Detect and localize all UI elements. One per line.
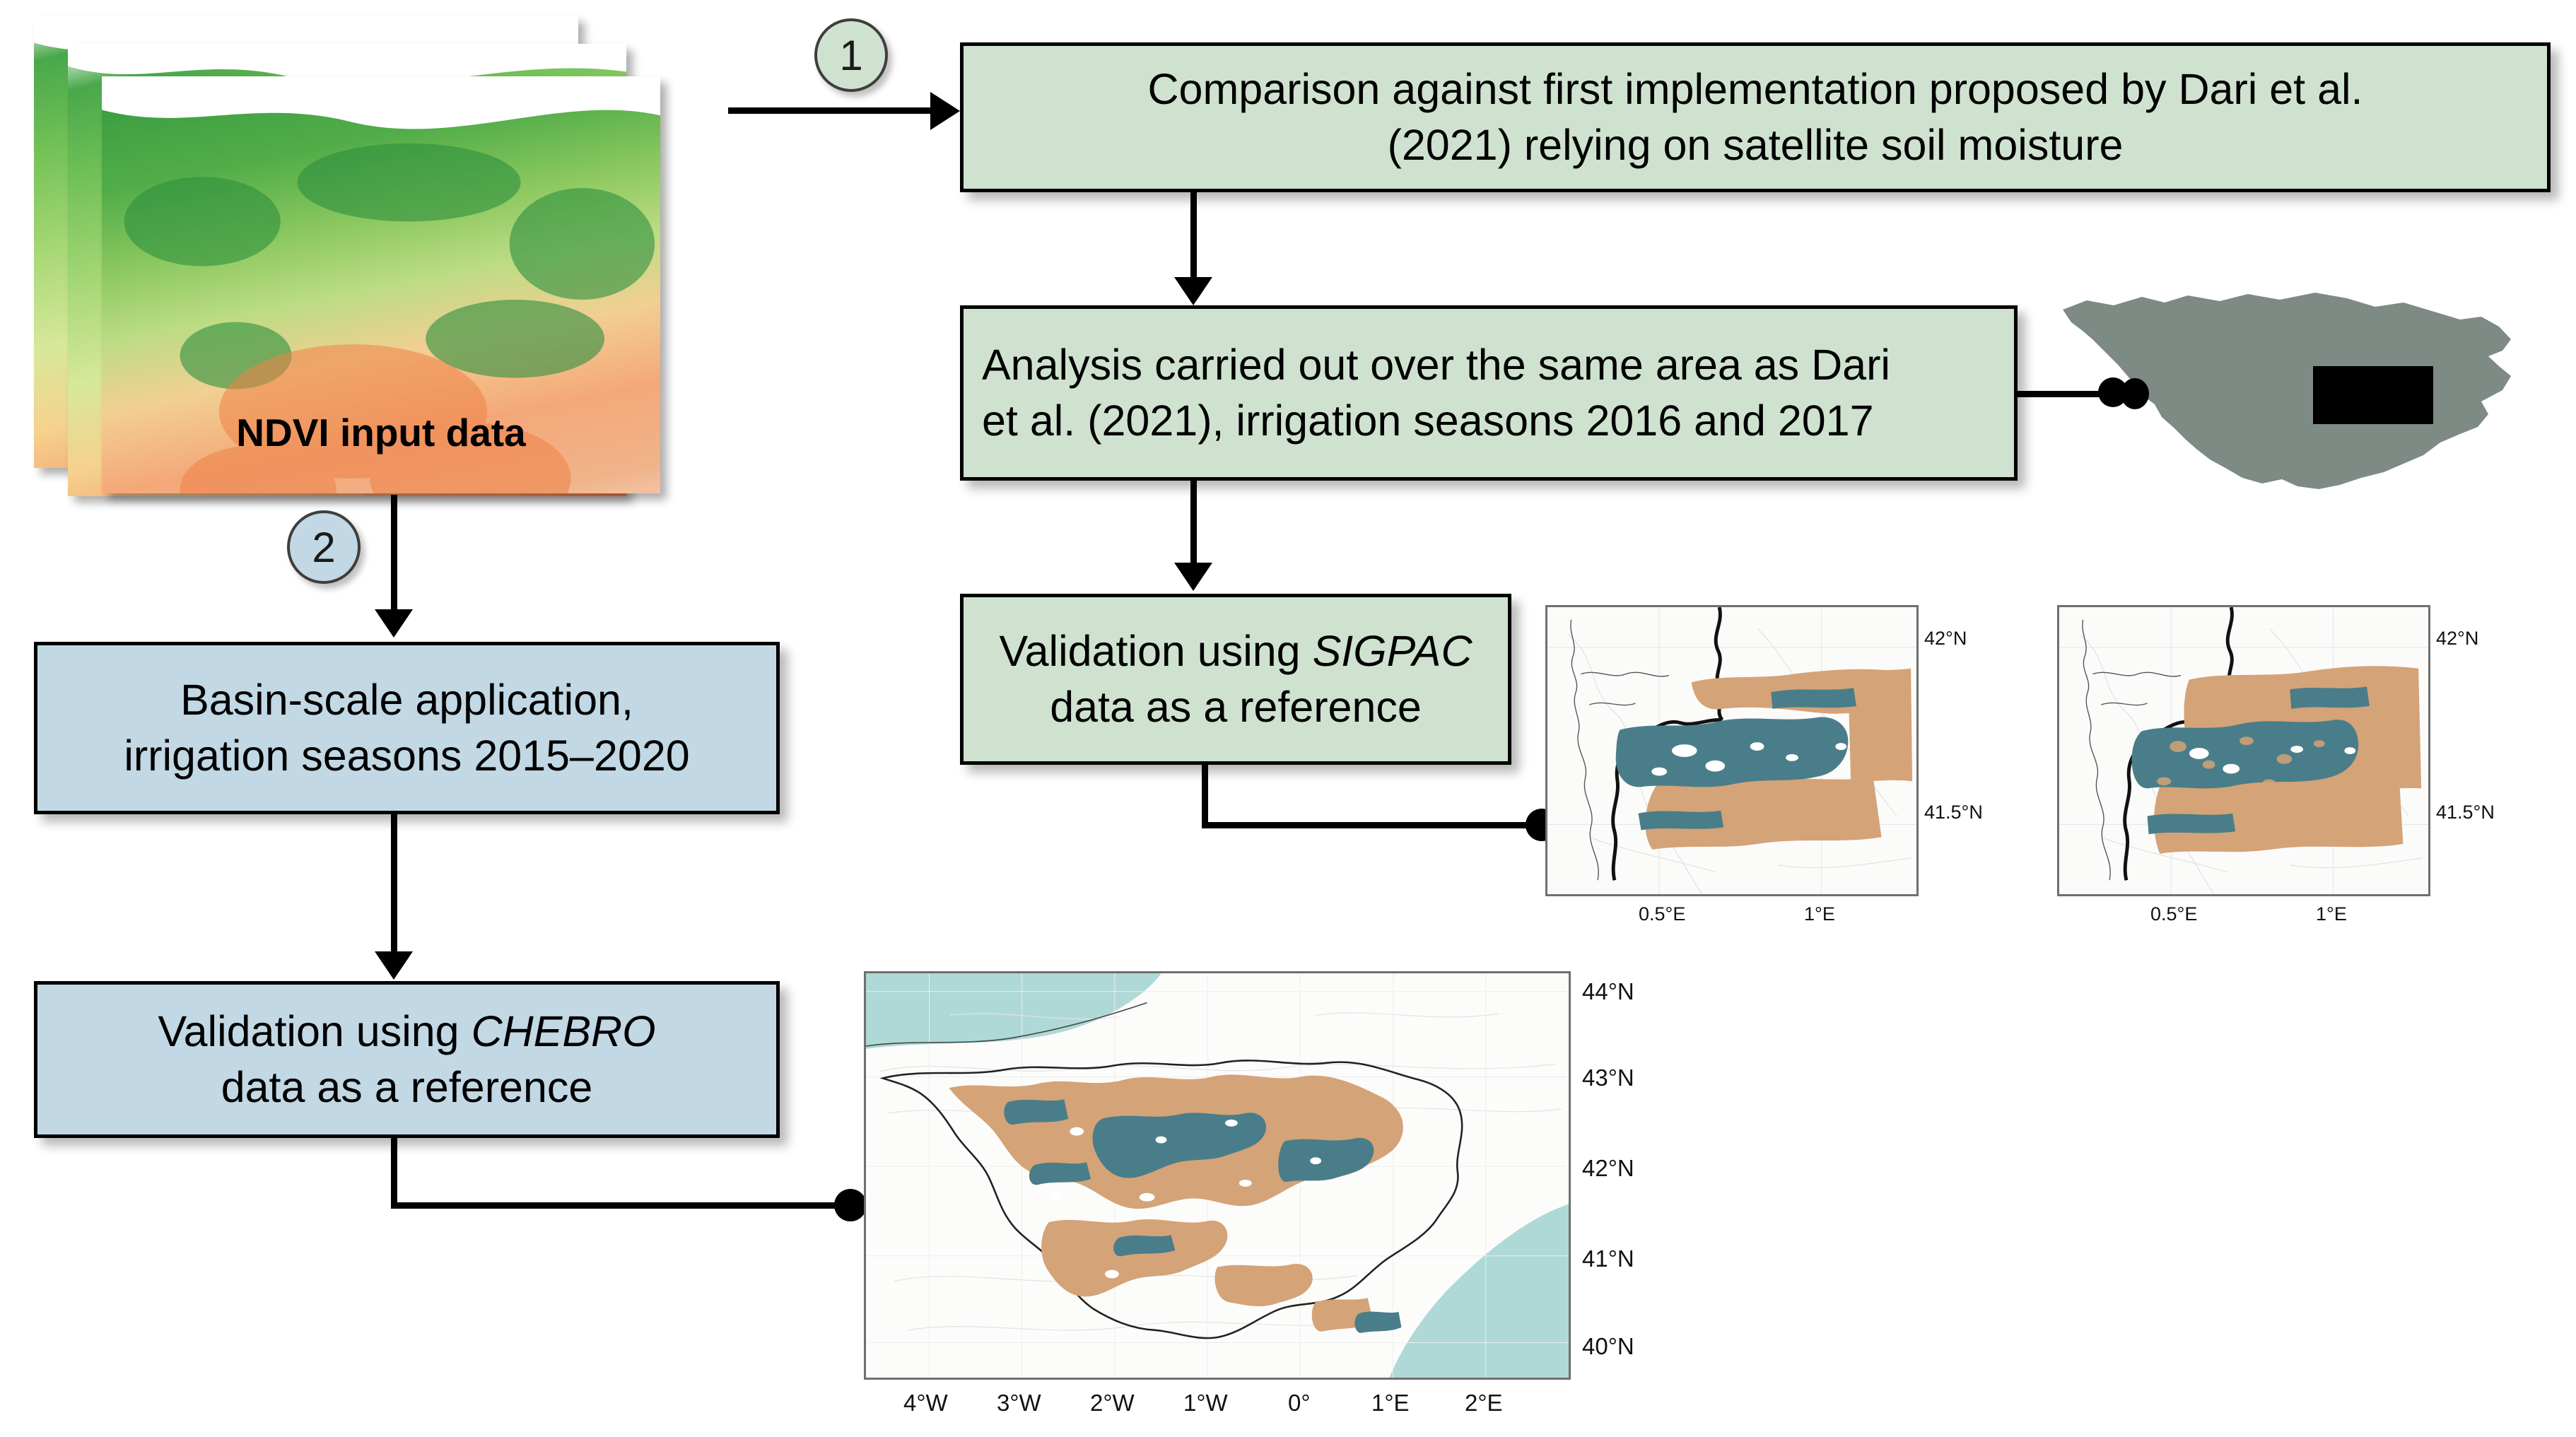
map-ebro-ytick-2: 42°N [1582, 1155, 1634, 1182]
box-validation-sigpac[interactable]: Validation using SIGPAC data as a refere… [960, 594, 1511, 765]
flowchart-canvas: NDVI input data 1 2 Comparison against f… [0, 0, 2576, 1437]
map-ebro-xtick-0: 4°W [903, 1390, 948, 1417]
arrow-analysis-to-validation-head [1174, 563, 1212, 591]
box-basin-scale[interactable]: Basin-scale application, irrigation seas… [34, 642, 780, 814]
connector-sigpac-vertical [1202, 765, 1208, 828]
box-validation-sigpac-line1-pre: Validation using [999, 627, 1312, 675]
map-ebro-xtick-4: 0° [1288, 1390, 1311, 1417]
connector-chebro-horizontal [391, 1202, 865, 1209]
arrow-basin-to-chebro-line [391, 814, 397, 956]
box-analysis-line2: et al. (2021), irrigation seasons 2016 a… [982, 393, 1996, 449]
box-comparison-text: Comparison against first implementation … [982, 61, 2529, 174]
map-sigpac-left-xtick-0: 0.5°E [1639, 903, 1685, 925]
study-area-rectangle [2313, 366, 2433, 424]
arrow-comparison-to-analysis-head [1174, 277, 1212, 305]
box-comparison-line2: (2021) relying on satellite soil moistur… [982, 117, 2529, 173]
box-validation-chebro-line1-pre: Validation using [158, 1007, 471, 1055]
box-validation-chebro-source: CHEBRO [472, 1007, 656, 1055]
map-ebro-ytick-0: 44°N [1582, 978, 1634, 1005]
step-badge-2: 2 [287, 510, 361, 584]
box-analysis[interactable]: Analysis carried out over the same area … [960, 305, 2018, 481]
map-sigpac-estimated [2057, 605, 2430, 896]
arrow-ndvi-to-basin-line [391, 495, 397, 615]
connector-dot-chebro [834, 1189, 867, 1221]
map-ebro-xtick-2: 2°W [1090, 1390, 1135, 1417]
map-ebro-ytick-3: 41°N [1582, 1245, 1634, 1272]
step-badge-1: 1 [814, 18, 888, 92]
arrow-ndvi-to-basin-head [375, 609, 413, 638]
map-ebro-xtick-5: 1°E [1371, 1390, 1410, 1417]
box-validation-sigpac-line2: data as a reference [982, 679, 1489, 735]
arrow-ndvi-to-comparison-head [930, 92, 960, 130]
map-ebro-xtick-6: 2°E [1465, 1390, 1503, 1417]
map-sigpac-left-ytick-1: 41.5°N [1924, 802, 1983, 823]
map-sigpac-left-ytick-0: 42°N [1924, 628, 1967, 650]
connector-chebro-vertical [391, 1138, 397, 1209]
map-sigpac-right-xtick-0: 0.5°E [2150, 903, 2197, 925]
map-sigpac-right-xtick-1: 1°E [2316, 903, 2347, 925]
ndvi-input-label: NDVI input data [102, 410, 660, 455]
box-basin-scale-text: Basin-scale application, irrigation seas… [56, 672, 758, 785]
connector-dot-inset-anchor [2121, 378, 2149, 409]
arrow-comparison-to-analysis-line [1190, 192, 1197, 280]
map-sigpac-left-xtick-1: 1°E [1804, 903, 1835, 925]
box-comparison[interactable]: Comparison against first implementation … [960, 42, 2551, 192]
box-comparison-line1: Comparison against first implementation … [982, 61, 2529, 117]
arrow-analysis-to-validation-line [1190, 481, 1197, 565]
box-analysis-text: Analysis carried out over the same area … [982, 337, 1996, 450]
step-badge-2-label: 2 [312, 523, 335, 572]
box-validation-chebro-line2: data as a reference [56, 1060, 758, 1115]
map-ebro-basin [864, 971, 1571, 1380]
step-badge-1-label: 1 [839, 31, 862, 80]
arrow-basin-to-chebro-head [375, 951, 413, 980]
connector-sigpac-horizontal [1202, 822, 1555, 828]
map-sigpac-right-ytick-1: 41.5°N [2436, 802, 2495, 823]
box-validation-chebro-text: Validation using CHEBRO data as a refere… [56, 1004, 758, 1116]
box-analysis-line1: Analysis carried out over the same area … [982, 337, 1996, 393]
box-basin-scale-line1: Basin-scale application, [56, 672, 758, 728]
map-ebro-ytick-4: 40°N [1582, 1333, 1634, 1360]
map-ebro-xtick-3: 1°W [1183, 1390, 1228, 1417]
box-validation-chebro[interactable]: Validation using CHEBRO data as a refere… [34, 981, 780, 1138]
box-validation-sigpac-source: SIGPAC [1313, 627, 1473, 675]
box-basin-scale-line2: irrigation seasons 2015–2020 [56, 728, 758, 784]
box-validation-sigpac-text: Validation using SIGPAC data as a refere… [982, 623, 1489, 736]
map-sigpac-reference [1545, 605, 1919, 896]
map-ebro-ytick-1: 43°N [1582, 1064, 1634, 1091]
ebro-basin-inset [2036, 283, 2545, 495]
map-sigpac-right-ytick-0: 42°N [2436, 628, 2478, 650]
ndvi-layer-front: NDVI input data [102, 76, 660, 493]
arrow-ndvi-to-comparison-line [728, 107, 933, 114]
map-ebro-xtick-1: 3°W [997, 1390, 1041, 1417]
